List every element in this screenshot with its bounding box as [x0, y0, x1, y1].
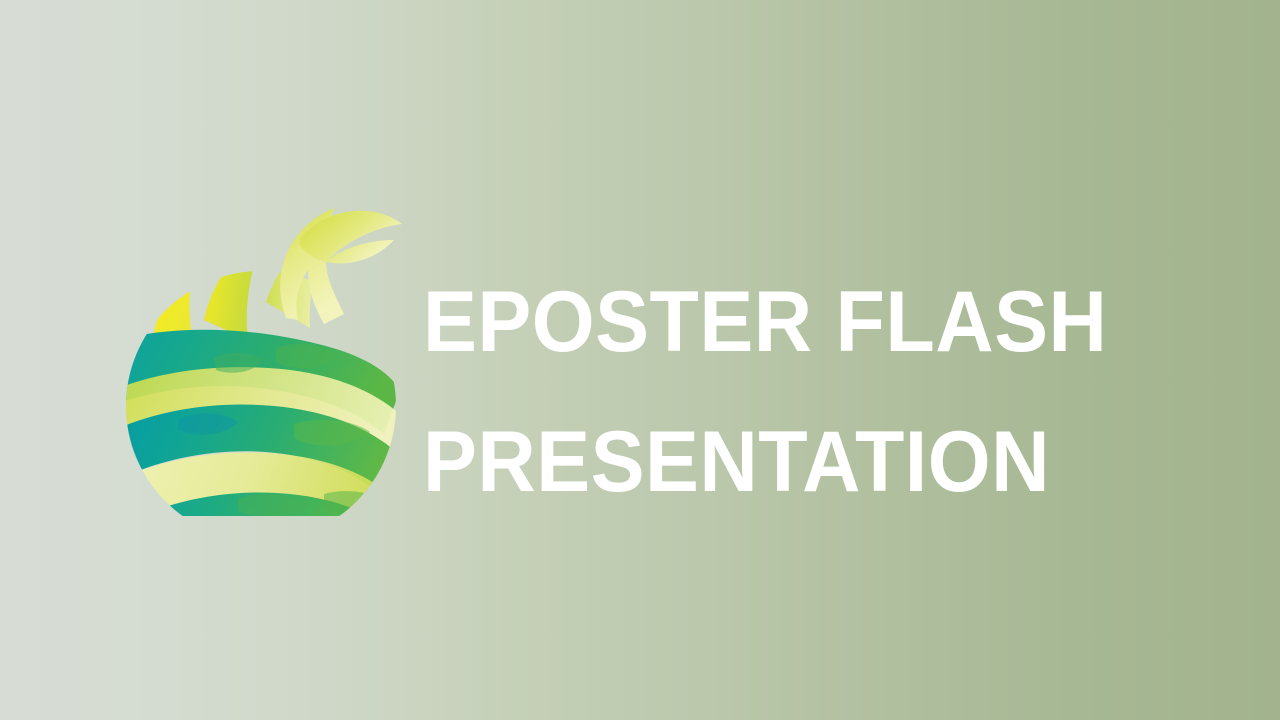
globe-bands [118, 218, 408, 516]
title-line-1: EPOSTER FLASH [423, 252, 1166, 392]
title-block: EPOSTER FLASH PRESENTATION [423, 252, 1213, 532]
globe-ribbon-leaf-icon [118, 198, 408, 516]
logo [118, 198, 408, 516]
slide-canvas: EPOSTER FLASH PRESENTATION [0, 0, 1280, 720]
title-line-2: PRESENTATION [423, 392, 1166, 532]
globe-band-tip-b [204, 234, 264, 340]
